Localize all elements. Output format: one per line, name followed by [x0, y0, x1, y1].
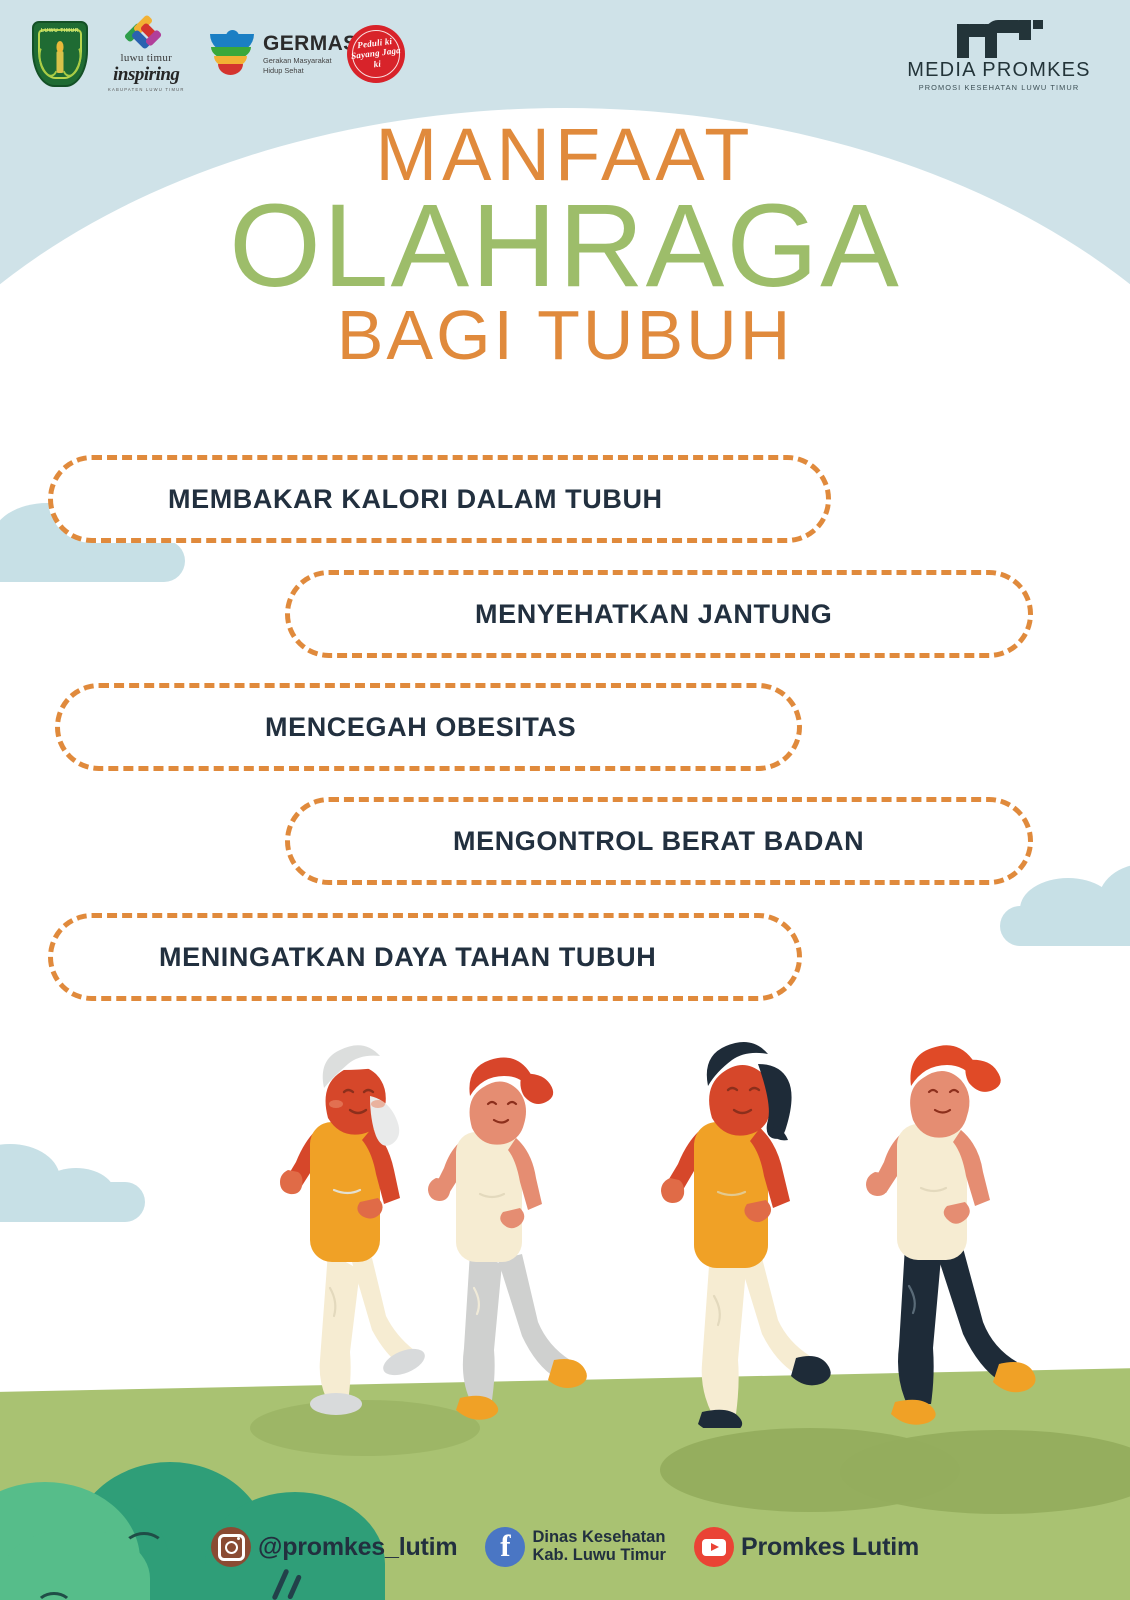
footer-youtube[interactable]: Promkes Lutim — [694, 1527, 919, 1567]
benefit-label-4: MENGONTROL BERAT BADAN — [453, 826, 864, 857]
facebook-name-line1: Dinas Kesehatan — [532, 1529, 666, 1547]
germas-subtitle-line2: Hidup Sehat — [263, 66, 358, 75]
header-logos: LUWU TIMUR luwu timur inspiring KABUPATE… — [0, 0, 1130, 108]
footer-instagram[interactable]: @promkes_lutim — [211, 1527, 457, 1567]
benefit-label-5: MENINGATKAN DAYA TAHAN TUBUH — [159, 942, 656, 973]
cloud-right — [1000, 862, 1130, 942]
benefit-pill-5[interactable]: MENINGATKAN DAYA TAHAN TUBUH — [48, 913, 802, 1001]
cloud-left-lower — [0, 1140, 145, 1220]
media-promkes-mark-icon — [951, 10, 1047, 58]
media-promkes-subtitle: PROMOSI KESEHATAN LUWU TIMUR — [919, 83, 1080, 92]
luwu-timur-shield-icon: LUWU TIMUR — [32, 21, 88, 87]
runner-figure-4 — [845, 1038, 1075, 1428]
title-line-bagi-tubuh: BAGI TUBUH — [0, 300, 1130, 370]
benefit-pill-1[interactable]: MEMBAKAR KALORI DALAM TUBUH — [48, 455, 831, 543]
germas-subtitle-line1: Gerakan Masyarakat — [263, 56, 358, 65]
benefit-pill-2[interactable]: MENYEHATKAN JANTUNG — [285, 570, 1033, 658]
runner-figure-2 — [398, 1048, 638, 1428]
logo-peduli-ki: Peduli ki Sayang Jaga ki — [347, 0, 405, 108]
inspiring-line2: inspiring — [113, 66, 179, 84]
poster-root: LUWU TIMUR luwu timur inspiring KABUPATE… — [0, 0, 1130, 1600]
runner-figure-3 — [614, 1028, 864, 1428]
benefit-label-3: MENCEGAH OBESITAS — [265, 712, 576, 743]
germas-title: GERMAS — [263, 33, 358, 54]
germas-mark-icon — [208, 28, 256, 80]
benefit-label-1: MEMBAKAR KALORI DALAM TUBUH — [168, 484, 663, 515]
youtube-channel: Promkes Lutim — [741, 1533, 919, 1562]
logo-luwu-timur-emblem: LUWU TIMUR — [32, 0, 88, 108]
youtube-icon — [694, 1527, 734, 1567]
inspiring-line1: luwu timur — [121, 52, 173, 64]
instagram-icon — [211, 1527, 251, 1567]
benefit-pill-4[interactable]: MENGONTROL BERAT BADAN — [285, 797, 1033, 885]
inspiring-mark-icon — [120, 16, 172, 50]
footer-facebook[interactable]: f Dinas Kesehatan Kab. Luwu Timur — [485, 1527, 666, 1567]
footer-social-bar: @promkes_lutim f Dinas Kesehatan Kab. Lu… — [0, 1512, 1130, 1582]
poster-title: MANFAAT OLAHRAGA BAGI TUBUH — [0, 118, 1130, 370]
inspiring-line3: KABUPATEN LUWU TIMUR — [108, 87, 185, 92]
title-line-olahraga: OLAHRAGA — [0, 186, 1130, 306]
media-promkes-title: MEDIA PROMKES — [907, 59, 1090, 82]
instagram-handle: @promkes_lutim — [258, 1533, 457, 1562]
shield-title: LUWU TIMUR — [34, 28, 86, 34]
logo-media-promkes: MEDIA PROMKES PROMOSI KESEHATAN LUWU TIM… — [904, 10, 1094, 92]
facebook-name: Dinas Kesehatan Kab. Luwu Timur — [532, 1529, 666, 1565]
logo-germas: GERMAS Gerakan Masyarakat Hidup Sehat — [208, 0, 358, 108]
logo-luwu-timur-inspiring: luwu timur inspiring KABUPATEN LUWU TIMU… — [108, 0, 185, 108]
benefit-pill-3[interactable]: MENCEGAH OBESITAS — [55, 683, 802, 771]
benefit-label-2: MENYEHATKAN JANTUNG — [475, 599, 832, 630]
facebook-name-line2: Kab. Luwu Timur — [532, 1547, 666, 1565]
facebook-icon: f — [485, 1527, 525, 1567]
peduli-ki-badge-icon: Peduli ki Sayang Jaga ki — [347, 25, 405, 83]
